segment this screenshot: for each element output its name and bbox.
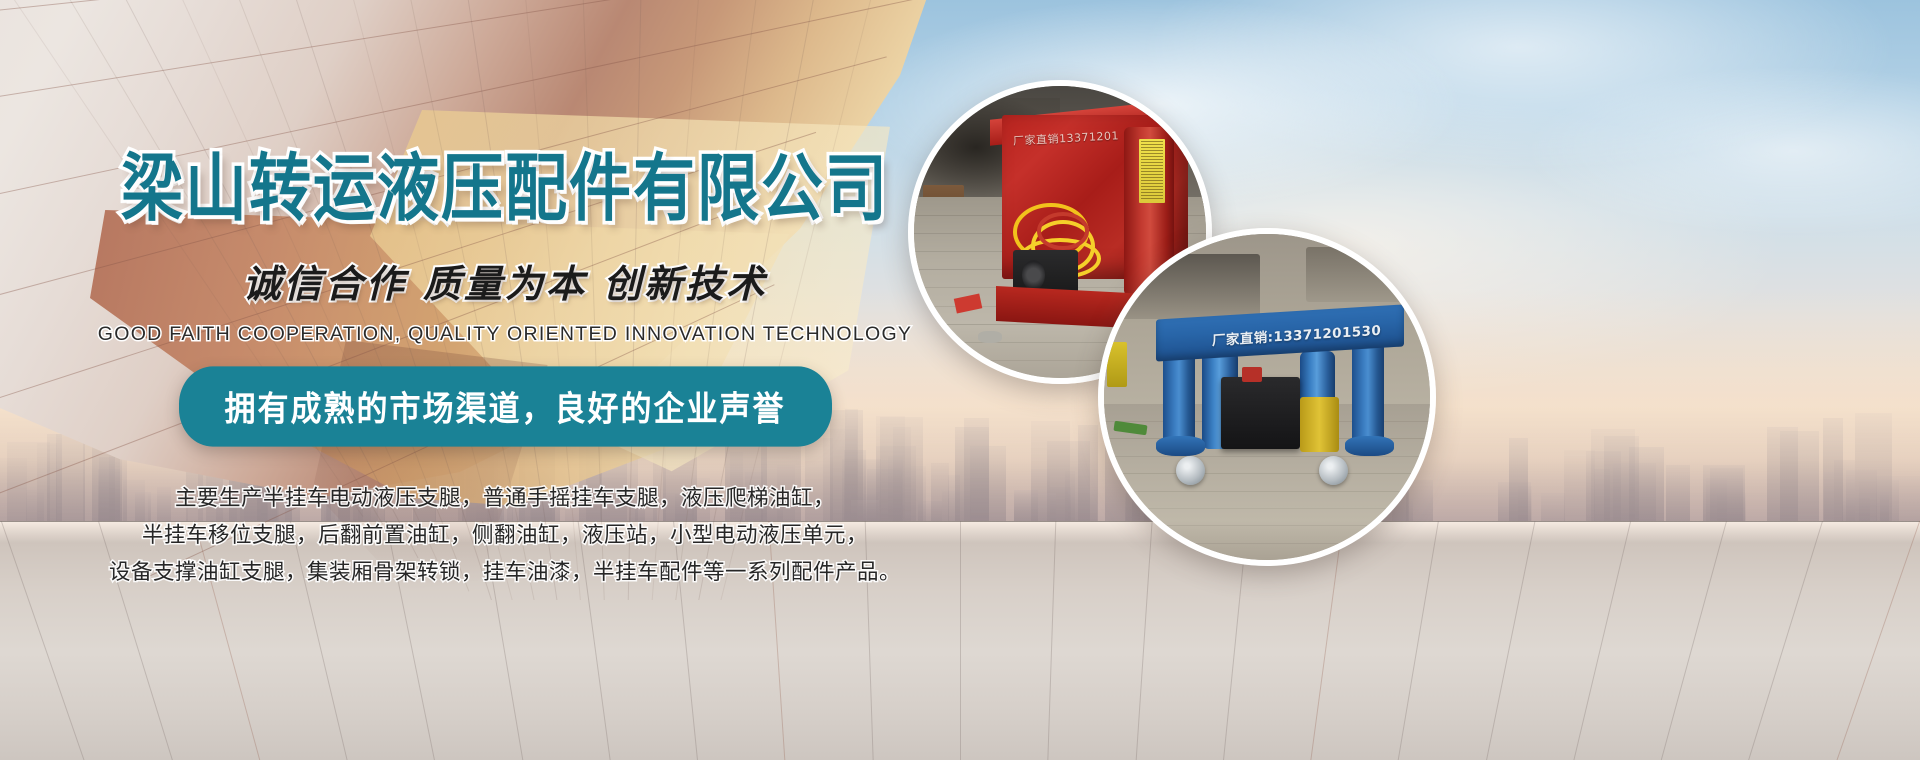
description-line-2: 半挂车移位支腿，后翻前置油缸，侧翻油缸，液压站，小型电动液压单元， [0, 518, 1010, 555]
blue-photo-yellow-part [1107, 342, 1127, 388]
blue-machine-control-box [1221, 377, 1299, 449]
product-description: 主要生产半挂车电动液压支腿，普通手摇挂车支腿，液压爬梯油缸， 半挂车移位支腿，后… [0, 481, 1010, 592]
blue-photo-far-object-2 [1306, 247, 1417, 302]
highlight-pill-wrapper: 拥有成熟的市场渠道，良好的企业声誉 [0, 370, 1010, 443]
blue-machine-foot-left [1156, 436, 1205, 456]
banner-text-block: 梁山转运液压配件有限公司 诚信合作 质量为本 创新技术 GOOD FAITH C… [0, 150, 1010, 592]
english-tagline: GOOD FAITH COOPERATION, QUALITY ORIENTED… [0, 323, 1010, 346]
market-reputation-pill: 拥有成熟的市场渠道，良好的企业声誉 [179, 366, 832, 446]
description-line-3: 设备支撑油缸支腿，集装厢骨架转锁，挂车油漆，半挂车配件等一系列配件产品。 [0, 555, 1010, 592]
product-photo-blue-machine: 厂家直销:13371201530 [1098, 228, 1436, 566]
blue-machine-foot-right [1345, 436, 1394, 456]
blue-machine-image: 厂家直销:13371201530 [1104, 234, 1430, 560]
red-machine-yellow-sticker [1139, 139, 1165, 203]
blue-photo-far-object-1 [1117, 254, 1260, 319]
promotional-banner: 梁山转运液压配件有限公司 诚信合作 质量为本 创新技术 GOOD FAITH C… [0, 0, 1920, 760]
company-title: 梁山转运液压配件有限公司 [0, 150, 1010, 229]
blue-machine-wheel-left [1176, 456, 1205, 485]
blue-machine-post-right [1352, 345, 1385, 443]
slogan-subtitle: 诚信合作 质量为本 创新技术 [0, 253, 1010, 308]
red-machine-hose-coil-4 [1037, 212, 1090, 250]
blue-machine-tank [1300, 397, 1339, 452]
red-photo-debris-2 [978, 331, 1001, 343]
description-line-1: 主要生产半挂车电动液压支腿，普通手摇挂车支腿，液压爬梯油缸， [0, 481, 1010, 518]
